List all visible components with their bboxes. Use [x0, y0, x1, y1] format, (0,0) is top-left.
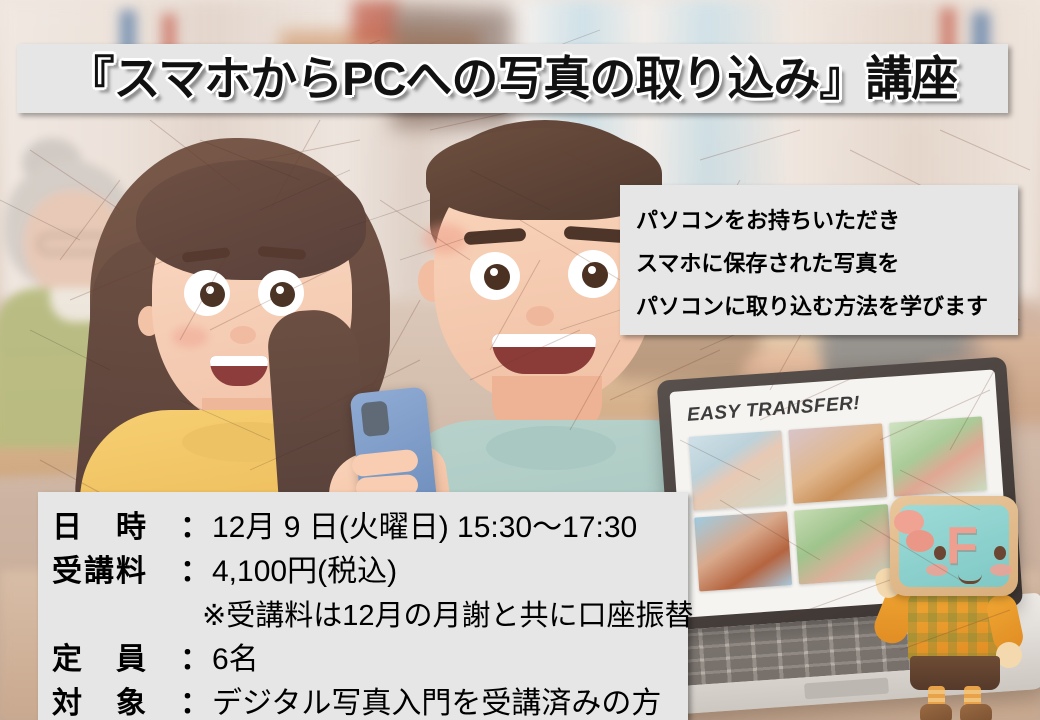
detail-value-capacity: 6名 — [212, 638, 259, 682]
mascot-tv-head: F — [890, 496, 1018, 596]
detail-row-target: 対 象 ： デジタル写真入門を受講済みの方 — [52, 682, 688, 720]
detail-value-fee: 4,100円(税込) — [212, 550, 397, 594]
description-line-1: パソコンをお持ちいただき — [636, 199, 1002, 242]
poster-canvas: EASY TRANSFER! — [0, 0, 1040, 720]
detail-colon: ： — [180, 506, 210, 550]
detail-value-datetime: 12月 9 日(火曜日) 15:30～17:30 — [212, 506, 637, 550]
mascot-character: F — [874, 482, 1036, 720]
detail-colon: ： — [180, 682, 210, 720]
mascot-blush — [926, 564, 948, 576]
photo-thumbnail — [789, 423, 887, 503]
detail-value-target: デジタル写真入門を受講済みの方 — [212, 682, 661, 720]
detail-label-target: 対 象 — [52, 682, 180, 720]
mascot-boot — [920, 704, 952, 720]
detail-row-fee: 受講料 ： 4,100円(税込) — [52, 550, 688, 594]
mascot-skirt — [910, 656, 1000, 690]
description-line-2: スマホに保存された写真を — [636, 242, 1002, 285]
page-title: 『スマホからPCへの写真の取り込み』講座 — [68, 55, 958, 102]
mascot-eye — [934, 546, 946, 560]
mascot-face-letter: F — [946, 522, 992, 574]
mascot-boot — [960, 704, 992, 720]
details-panel: 日 時 ： 12月 9 日(火曜日) 15:30～17:30 受講料 ： 4,1… — [38, 492, 688, 720]
photo-thumbnail — [694, 511, 792, 591]
mascot-eye — [994, 546, 1006, 560]
detail-colon: ： — [180, 638, 210, 682]
description-line-3: パソコンに取り込む方法を学びます — [636, 285, 1002, 328]
phone-camera-icon — [361, 401, 390, 438]
description-panel: パソコンをお持ちいただき スマホに保存された写真を パソコンに取り込む方法を学び… — [620, 185, 1018, 335]
detail-label-fee: 受講料 — [52, 550, 180, 594]
detail-row-datetime: 日 時 ： 12月 9 日(火曜日) 15:30～17:30 — [52, 506, 688, 550]
mascot-torso — [908, 590, 1000, 662]
bow-icon — [906, 530, 934, 552]
detail-label-datetime: 日 時 — [52, 506, 180, 550]
detail-colon: ： — [180, 550, 210, 594]
detail-row-capacity: 定 員 ： 6名 — [52, 638, 688, 682]
photo-thumbnail — [689, 430, 787, 510]
detail-label-capacity: 定 員 — [52, 638, 180, 682]
title-banner: 『スマホからPCへの写真の取り込み』講座 — [17, 44, 1008, 113]
detail-note-fee: ※受講料は12月の月謝と共に口座振替 — [52, 594, 688, 638]
mascot-blush — [990, 564, 1012, 576]
